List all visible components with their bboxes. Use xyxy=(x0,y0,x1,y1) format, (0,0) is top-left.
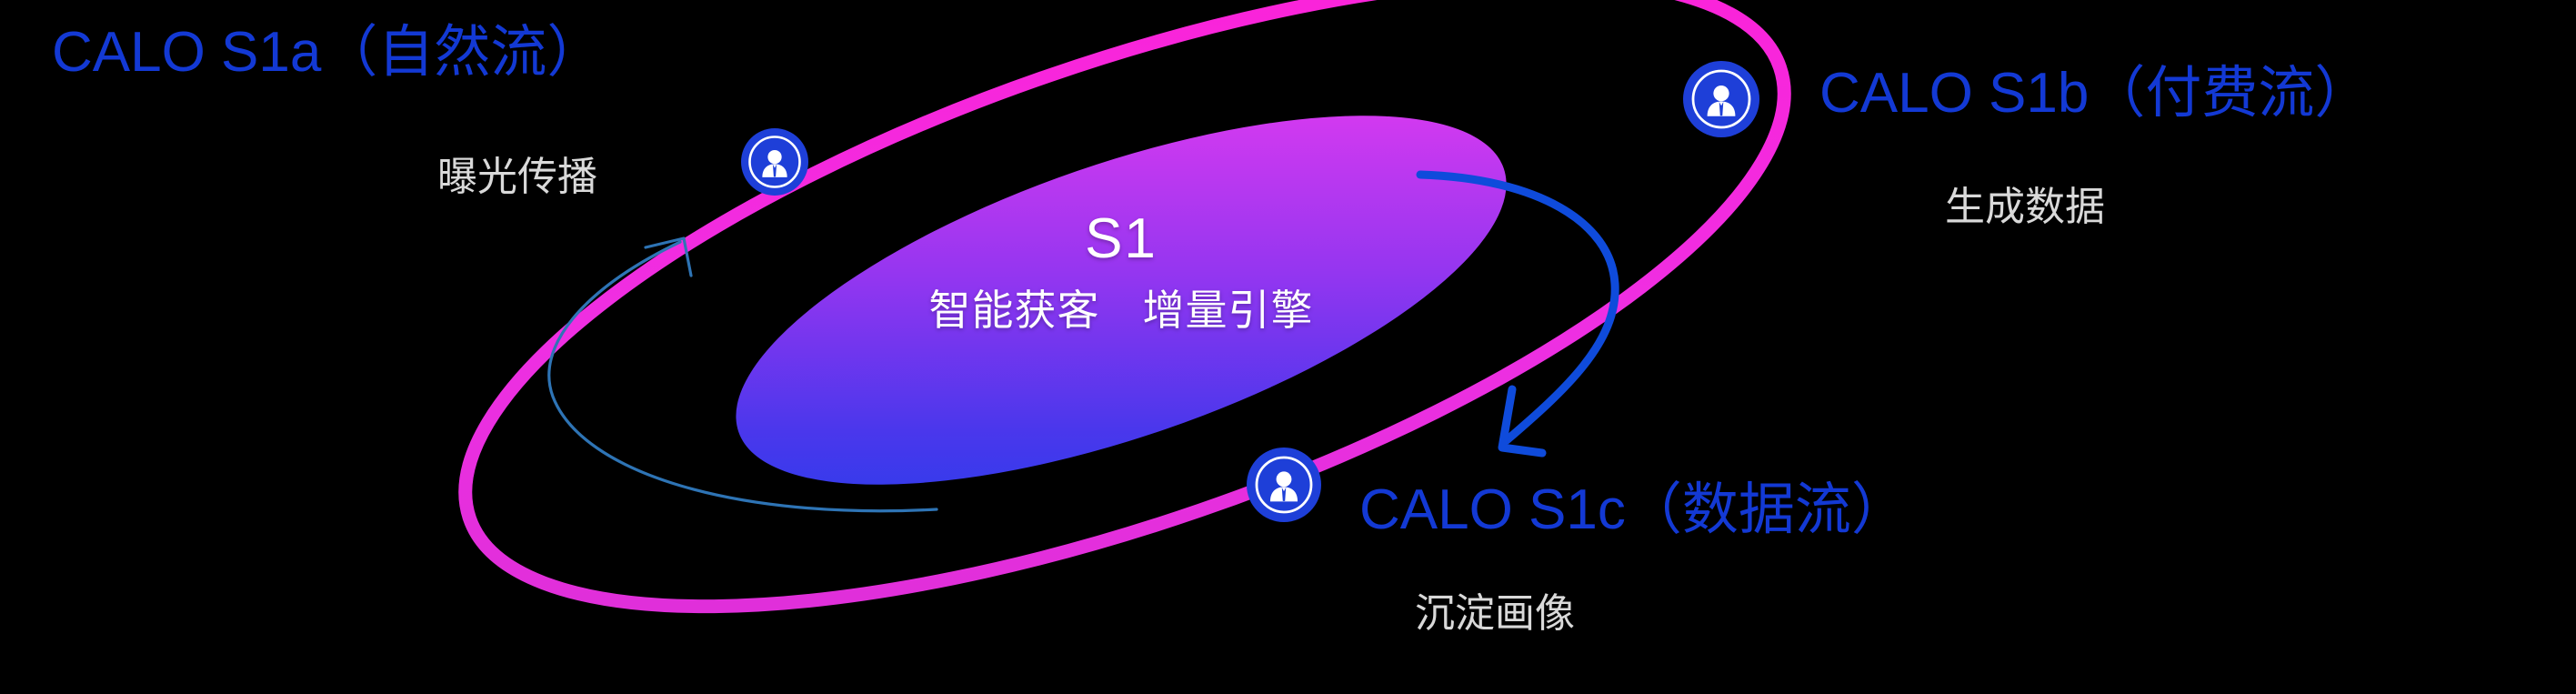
core-title: S1 xyxy=(1085,211,1158,267)
sidebar-node-badge-s1a[interactable] xyxy=(741,128,808,196)
node-caption-s1b: 生成数据 xyxy=(1945,187,2105,227)
sidebar-node-badge-s1c[interactable] xyxy=(1247,448,1321,522)
node-caption-s1a: 曝光传播 xyxy=(437,157,597,197)
core-subtitle: 智能获客 增量引擎 xyxy=(929,289,1314,331)
node-caption-s1c: 沉淀画像 xyxy=(1415,594,1575,634)
diagram-canvas: S1 智能获客 增量引擎 CALO S1a（自然流） 曝光传播 CALO S1b… xyxy=(0,0,2576,694)
sidebar-node-badge-s1b[interactable] xyxy=(1683,61,1759,137)
node-title-s1b[interactable]: CALO S1b（付费流） xyxy=(1819,65,2371,122)
node-title-s1a[interactable]: CALO S1a（自然流） xyxy=(52,25,603,81)
node-title-s1c[interactable]: CALO S1c（数据流） xyxy=(1359,482,1908,538)
